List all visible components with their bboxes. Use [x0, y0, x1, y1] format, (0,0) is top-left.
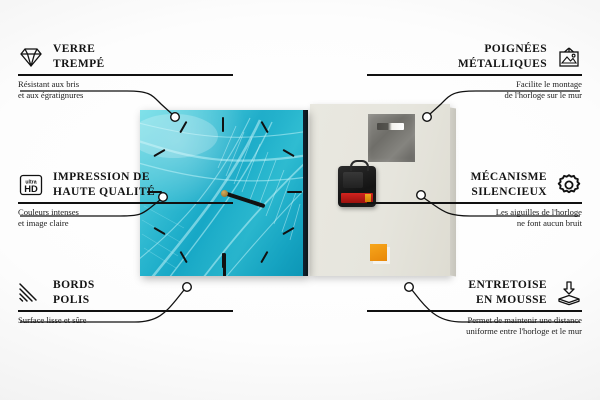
feature-title: MÉCANISME SILENCIEUX — [471, 170, 547, 199]
infographic-stage: VERRE TREMPÉ Résistant aux bris et aux é… — [0, 0, 600, 400]
feature-title-line2: EN MOUSSE — [468, 293, 547, 308]
feature-impression-haute-qualite: ultra HD IMPRESSION DE HAUTE QUALITÉ Cou… — [18, 170, 233, 230]
feature-rule — [367, 74, 582, 75]
feature-title-line1: POIGNÉES — [458, 42, 547, 57]
feature-description: Permet de maintenir une distance uniform… — [367, 315, 582, 338]
feature-rule — [18, 202, 233, 203]
mechanism-dial — [343, 172, 363, 188]
feature-title-line1: IMPRESSION DE — [53, 170, 155, 185]
feature-title-line2: SILENCIEUX — [471, 185, 547, 200]
feature-description: Couleurs intenses et image claire — [18, 207, 233, 230]
minute-hand — [223, 253, 226, 276]
feature-description: Les aiguilles de l'horloge ne font aucun… — [367, 207, 582, 230]
feature-header: ultra HD IMPRESSION DE HAUTE QUALITÉ — [18, 170, 233, 199]
feature-rule — [18, 310, 233, 311]
feature-description: Facilite le montage de l'horloge sur le … — [367, 79, 582, 102]
clock-edge — [303, 110, 308, 276]
feature-title: POIGNÉES MÉTALLIQUES — [458, 42, 547, 71]
feature-desc-line2: et aux égratignures — [18, 90, 233, 102]
feature-title-line2: HAUTE QUALITÉ — [53, 185, 155, 200]
feature-title-line2: MÉTALLIQUES — [458, 57, 547, 72]
feature-title-line1: BORDS — [53, 278, 95, 293]
feature-desc-line2: ne font aucun bruit — [367, 218, 582, 230]
picture-hanger-icon — [556, 44, 582, 70]
feature-rule — [367, 202, 582, 203]
feature-header: VERRE TREMPÉ — [18, 42, 233, 71]
feature-title: VERRE TREMPÉ — [53, 42, 105, 71]
feature-desc-line2: de l'horloge sur le mur — [367, 90, 582, 102]
polished-edge-icon — [18, 280, 44, 306]
feature-desc-line1: Résistant aux bris — [18, 79, 233, 91]
feature-header: ENTRETOISE EN MOUSSE — [367, 278, 582, 307]
foam-spacer — [370, 244, 387, 261]
feature-header: BORDS POLIS — [18, 278, 233, 307]
feature-description: Résistant aux bris et aux égratignures — [18, 79, 233, 102]
feature-description: Surface lisse et sûre — [18, 315, 233, 327]
feature-desc-line1: Facilite le montage — [367, 79, 582, 91]
feature-rule — [367, 310, 582, 311]
feature-header: MÉCANISME SILENCIEUX — [367, 170, 582, 199]
feature-title: BORDS POLIS — [53, 278, 95, 307]
feature-title-line1: VERRE — [53, 42, 105, 57]
feature-title-line2: TREMPÉ — [53, 57, 105, 72]
feature-title-line1: MÉCANISME — [471, 170, 547, 185]
feature-rule — [18, 74, 233, 75]
feature-desc-line1: Permet de maintenir une distance — [367, 315, 582, 327]
feature-desc-line1: Couleurs intenses — [18, 207, 233, 219]
gear-icon — [556, 172, 582, 198]
feature-bords-polis: BORDS POLIS Surface lisse et sûre — [18, 278, 233, 326]
feature-header: POIGNÉES MÉTALLIQUES — [367, 42, 582, 71]
feature-desc-line2: et image claire — [18, 218, 233, 230]
feature-title-line2: POLIS — [53, 293, 95, 308]
feature-entretoise-en-mousse: ENTRETOISE EN MOUSSE Permet de maintenir… — [367, 278, 582, 338]
feature-verre-trempe: VERRE TREMPÉ Résistant aux bris et aux é… — [18, 42, 233, 102]
feature-desc-line2: uniforme entre l'horloge et le mur — [367, 326, 582, 338]
feature-title: ENTRETOISE EN MOUSSE — [468, 278, 547, 307]
hanger-slot — [377, 123, 404, 130]
feature-desc-line1: Surface lisse et sûre — [18, 315, 233, 327]
metal-hanger-plate — [368, 114, 415, 162]
feature-title-line1: ENTRETOISE — [468, 278, 547, 293]
feature-desc-line1: Les aiguilles de l'horloge — [367, 207, 582, 219]
feature-mecanisme-silencieux: MÉCANISME SILENCIEUX Les aiguilles de l'… — [367, 170, 582, 230]
diamond-icon — [18, 44, 44, 70]
ultra-hd-icon: ultra HD — [18, 172, 44, 198]
foam-spacer-icon — [556, 280, 582, 306]
feature-poignees-metalliques: POIGNÉES MÉTALLIQUES Facilite le montage… — [367, 42, 582, 102]
ultra-hd-large-label: HD — [24, 183, 38, 194]
feature-title: IMPRESSION DE HAUTE QUALITÉ — [53, 170, 155, 199]
